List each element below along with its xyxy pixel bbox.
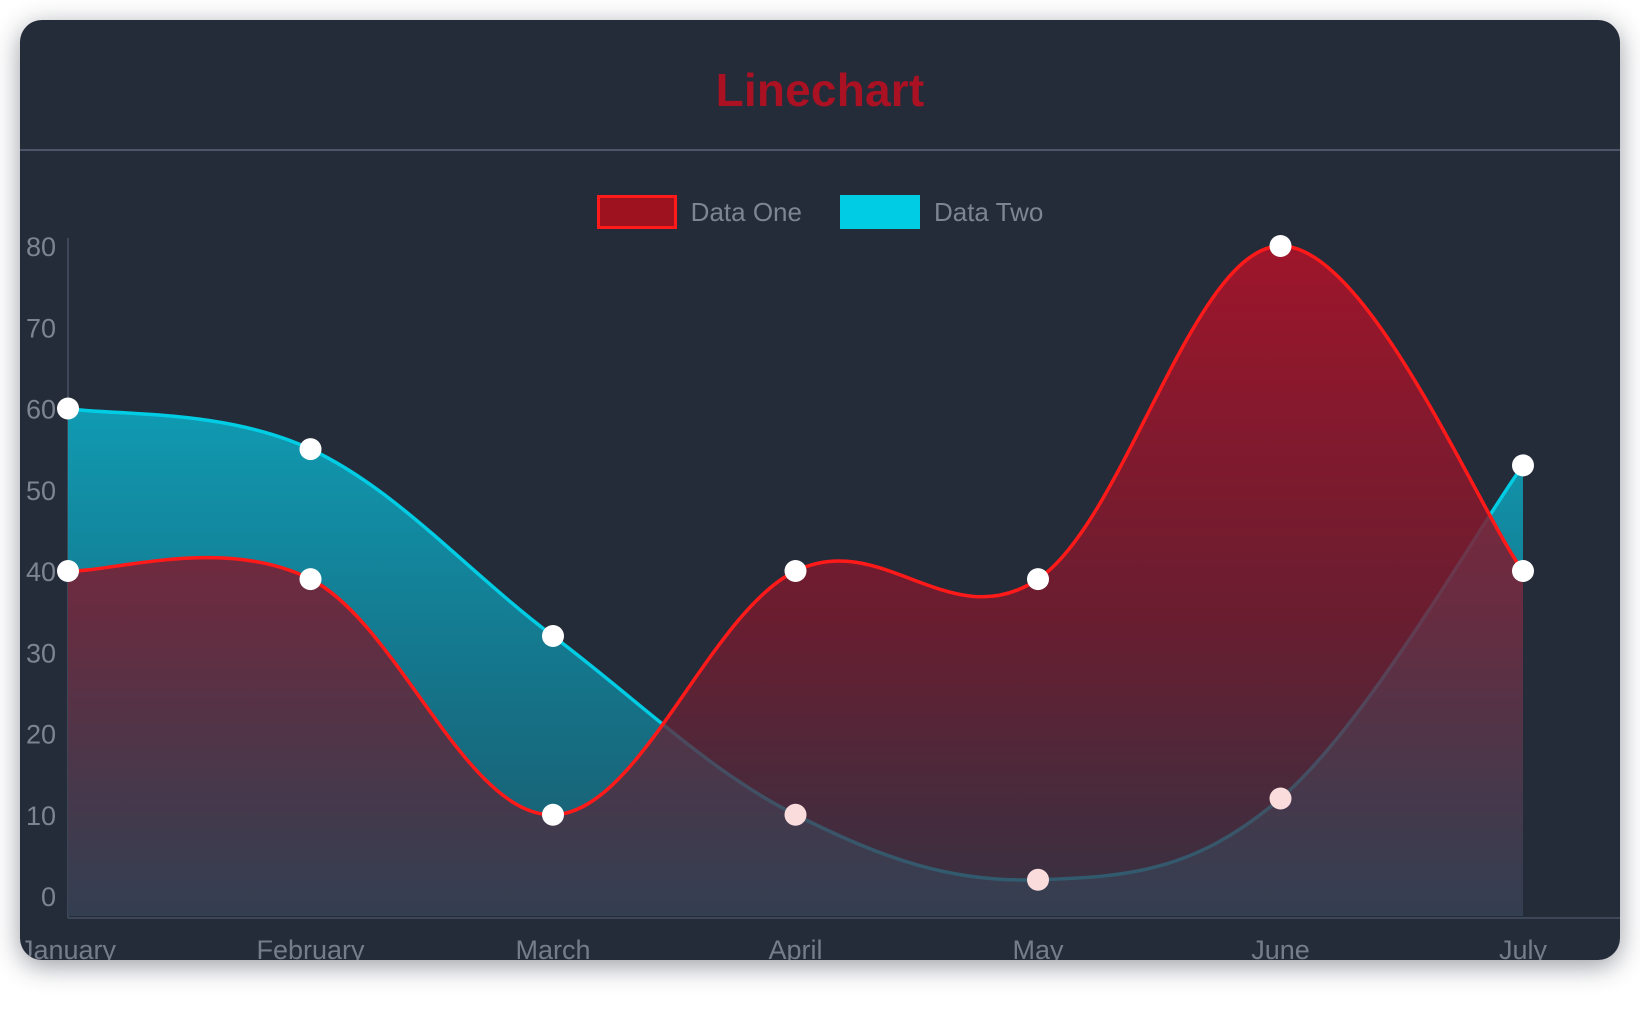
x-axis-tick-label: February: [256, 935, 365, 960]
data-point[interactable]: [785, 560, 807, 582]
y-axis-tick-label: 20: [26, 720, 56, 750]
y-axis-tick-label: 30: [26, 638, 56, 668]
y-axis-tick-label: 50: [26, 476, 56, 506]
x-axis-tick-label: March: [515, 935, 590, 960]
data-point[interactable]: [57, 560, 79, 582]
x-axis-tick-label: June: [1251, 935, 1310, 960]
data-point[interactable]: [1270, 788, 1292, 810]
data-point[interactable]: [300, 438, 322, 460]
data-point[interactable]: [300, 568, 322, 590]
y-axis-tick-label: 10: [26, 801, 56, 831]
linechart-card: Linechart Data One Data Two: [20, 20, 1620, 960]
data-point[interactable]: [1512, 454, 1534, 476]
y-axis-tick-label: 40: [26, 557, 56, 587]
data-point[interactable]: [785, 804, 807, 826]
data-point[interactable]: [542, 804, 564, 826]
y-axis-tick-label: 0: [41, 882, 56, 912]
data-point[interactable]: [1512, 560, 1534, 582]
linechart-svg: 80706050403020100 JanuaryFebruaryMarchAp…: [20, 20, 1620, 960]
x-axis-tick-label: April: [768, 935, 822, 960]
y-axis-tick-label: 70: [26, 313, 56, 343]
data-point[interactable]: [1270, 235, 1292, 257]
x-axis-tick-label: January: [20, 935, 117, 960]
data-point[interactable]: [1027, 869, 1049, 891]
data-point[interactable]: [57, 398, 79, 420]
x-axis: JanuaryFebruaryMarchAprilMayJuneJuly: [20, 918, 1620, 960]
x-axis-tick-label: May: [1012, 935, 1064, 960]
y-axis-tick-label: 60: [26, 395, 56, 425]
data-point[interactable]: [542, 625, 564, 647]
data-point[interactable]: [1027, 568, 1049, 590]
y-axis-tick-label: 80: [26, 232, 56, 262]
x-axis-tick-label: July: [1499, 935, 1548, 960]
plot-area: 80706050403020100 JanuaryFebruaryMarchAp…: [20, 20, 1620, 960]
